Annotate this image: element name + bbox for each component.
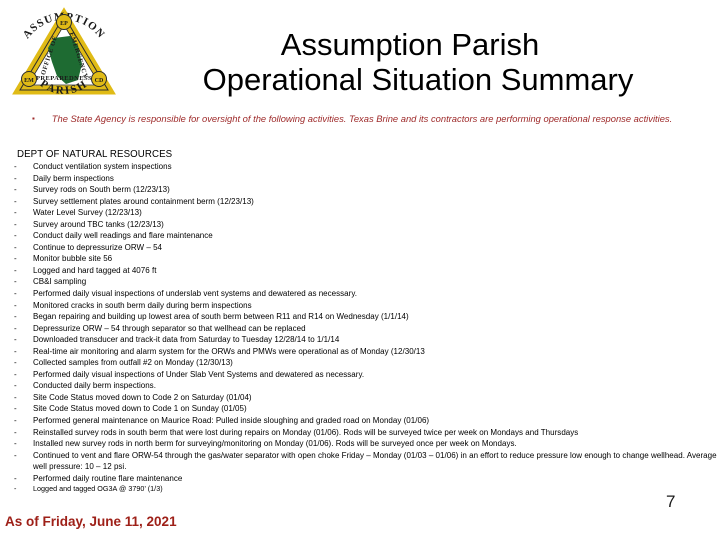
activity-item-text: Began repairing and building up lowest a… xyxy=(33,312,409,321)
dash-bullet-icon: - xyxy=(14,484,16,495)
svg-text:EM: EM xyxy=(24,78,34,84)
activity-item: -Performed daily visual inspections of u… xyxy=(0,288,720,300)
activity-item-text: Performed general maintenance on Maurice… xyxy=(33,416,429,425)
dash-bullet-icon: - xyxy=(14,369,17,381)
activity-item: -Installed new survey rods in north berm… xyxy=(0,438,720,450)
activity-item-text: Performed daily visual inspections of un… xyxy=(33,289,357,298)
activity-item: -Collected samples from outfall #2 on Mo… xyxy=(0,357,720,369)
title-line-2: Operational Situation Summary xyxy=(120,63,700,98)
dash-bullet-icon: - xyxy=(14,161,17,173)
activity-item: -Performed daily visual inspections of U… xyxy=(0,369,720,381)
activity-item: -Survey rods on South berm (12/23/13) xyxy=(0,184,720,196)
activity-item: -Monitor bubble site 56 xyxy=(0,253,720,265)
activity-item-text: Survey rods on South berm (12/23/13) xyxy=(33,185,170,194)
dash-bullet-icon: - xyxy=(14,253,17,265)
activity-item: - Daily berm inspections xyxy=(0,173,720,185)
activity-item: -Logged and tagged OG3A @ 3790’ (1/3) xyxy=(0,484,720,495)
title-line-1: Assumption Parish xyxy=(120,28,700,63)
activity-item-text: Continue to depressurize ORW – 54 xyxy=(33,243,162,252)
activity-item: -Logged and hard tagged at 4076 ft xyxy=(0,265,720,277)
activity-item-text: Conduct ventilation system inspections xyxy=(33,162,172,171)
dash-bullet-icon: - xyxy=(14,276,17,288)
activity-item-text: Site Code Status moved down to Code 2 on… xyxy=(33,393,252,402)
dash-bullet-icon: - xyxy=(14,323,17,335)
dash-bullet-icon: - xyxy=(14,311,17,323)
activity-item: -Continued to vent and flare ORW-54 thro… xyxy=(0,450,720,473)
dash-bullet-icon: - xyxy=(14,219,17,231)
activity-item-text: Real-time air monitoring and alarm syste… xyxy=(33,347,425,356)
activity-item-text: Conduct daily well readings and flare ma… xyxy=(33,231,213,240)
activity-item-text: Survey settlement plates around containm… xyxy=(33,197,254,206)
intro-note: ▪ The State Agency is responsible for ov… xyxy=(28,112,696,125)
page-number: 7 xyxy=(666,492,675,512)
activity-item: -Conduct ventilation system inspections xyxy=(0,161,720,173)
activity-item-text: Daily berm inspections xyxy=(33,174,114,183)
activity-item: -Depressurize ORW – 54 through separator… xyxy=(0,323,720,335)
activity-list: -Conduct ventilation system inspections-… xyxy=(0,161,720,495)
slide-canvas: ASSUMPTION PARISH OFFICE OF EMERGENCY PR… xyxy=(0,0,720,540)
activity-item: -Real-time air monitoring and alarm syst… xyxy=(0,346,720,358)
dash-bullet-icon: - xyxy=(14,288,17,300)
activity-item-text: Logged and tagged OG3A @ 3790’ (1/3) xyxy=(33,484,163,493)
activity-item-text: Collected samples from outfall #2 on Mon… xyxy=(33,358,233,367)
activity-item-text: Downloaded transducer and track-it data … xyxy=(33,335,339,344)
activity-item: -CB&I sampling xyxy=(0,276,720,288)
dash-bullet-icon: - xyxy=(14,207,17,219)
activity-item-text: Depressurize ORW – 54 through separator … xyxy=(33,324,306,333)
activity-item: -Conduct daily well readings and flare m… xyxy=(0,230,720,242)
dash-bullet-icon: - xyxy=(14,196,17,208)
activity-item-text: Installed new survey rods in north berm … xyxy=(33,439,517,448)
content-body: DEPT OF NATURAL RESOURCES -Conduct venti… xyxy=(0,149,720,495)
activity-item-text: Continued to vent and flare ORW-54 throu… xyxy=(33,451,717,472)
dash-bullet-icon: - xyxy=(14,357,17,369)
dash-bullet-icon: - xyxy=(14,300,17,312)
intro-note-text: The State Agency is responsible for over… xyxy=(52,113,672,124)
dash-bullet-icon: - xyxy=(14,346,17,358)
dash-bullet-icon: - xyxy=(14,265,17,277)
activity-item-text: Conducted daily berm inspections. xyxy=(33,381,156,390)
dash-bullet-icon: - xyxy=(14,334,17,346)
assumption-parish-seal-logo: ASSUMPTION PARISH OFFICE OF EMERGENCY PR… xyxy=(8,2,120,112)
dash-bullet-icon: - xyxy=(14,473,17,485)
activity-item-text: Logged and hard tagged at 4076 ft xyxy=(33,266,156,275)
activity-item-text: Survey around TBC tanks (12/23/13) xyxy=(33,220,164,229)
activity-item: -Performed daily routine flare maintenan… xyxy=(0,473,720,485)
activity-item: -Survey around TBC tanks (12/23/13) xyxy=(0,219,720,231)
svg-text:PREPAREDNESS: PREPAREDNESS xyxy=(36,75,92,82)
activity-item: -Reinstalled survey rods in south berm t… xyxy=(0,427,720,439)
activity-item-text: Performed daily visual inspections of Un… xyxy=(33,370,364,379)
activity-item: -Site Code Status moved down to Code 1 o… xyxy=(0,403,720,415)
activity-item-text: CB&I sampling xyxy=(33,277,86,286)
as-of-date-footer: As of Friday, June 11, 2021 xyxy=(5,514,177,529)
activity-item: -Downloaded transducer and track-it data… xyxy=(0,334,720,346)
activity-item: -Continue to depressurize ORW – 54 xyxy=(0,242,720,254)
section-heading: DEPT OF NATURAL RESOURCES xyxy=(17,149,720,160)
activity-item-text: Monitor bubble site 56 xyxy=(33,254,112,263)
activity-item-text: Monitored cracks in south berm daily dur… xyxy=(33,301,252,310)
activity-item-text: Reinstalled survey rods in south berm th… xyxy=(33,428,578,437)
svg-text:CD: CD xyxy=(95,78,104,84)
activity-item-text: Water Level Survey (12/23/13) xyxy=(33,208,142,217)
dash-bullet-icon: - xyxy=(14,403,17,415)
dash-bullet-icon: - xyxy=(14,230,17,242)
dash-bullet-icon: - xyxy=(14,242,17,254)
activity-item: -Conducted daily berm inspections. xyxy=(0,380,720,392)
dash-bullet-icon: - xyxy=(14,380,17,392)
dash-bullet-icon: - xyxy=(14,392,17,404)
square-bullet-icon: ▪ xyxy=(32,113,35,124)
svg-text:EP: EP xyxy=(60,21,68,27)
activity-item: -Began repairing and building up lowest … xyxy=(0,311,720,323)
activity-item: -Performed general maintenance on Mauric… xyxy=(0,415,720,427)
dash-bullet-icon: - xyxy=(14,450,17,462)
activity-item-text: Performed daily routine flare maintenanc… xyxy=(33,474,182,483)
activity-item-text: Site Code Status moved down to Code 1 on… xyxy=(33,404,247,413)
page-title: Assumption Parish Operational Situation … xyxy=(120,28,700,97)
activity-item: -Site Code Status moved down to Code 2 o… xyxy=(0,392,720,404)
dash-bullet-icon: - xyxy=(14,438,17,450)
dash-bullet-icon: - xyxy=(14,173,17,185)
dash-bullet-icon: - xyxy=(14,427,17,439)
activity-item: -Water Level Survey (12/23/13) xyxy=(0,207,720,219)
activity-item: -Monitored cracks in south berm daily du… xyxy=(0,300,720,312)
dash-bullet-icon: - xyxy=(14,184,17,196)
dash-bullet-icon: - xyxy=(14,415,17,427)
activity-item: -Survey settlement plates around contain… xyxy=(0,196,720,208)
